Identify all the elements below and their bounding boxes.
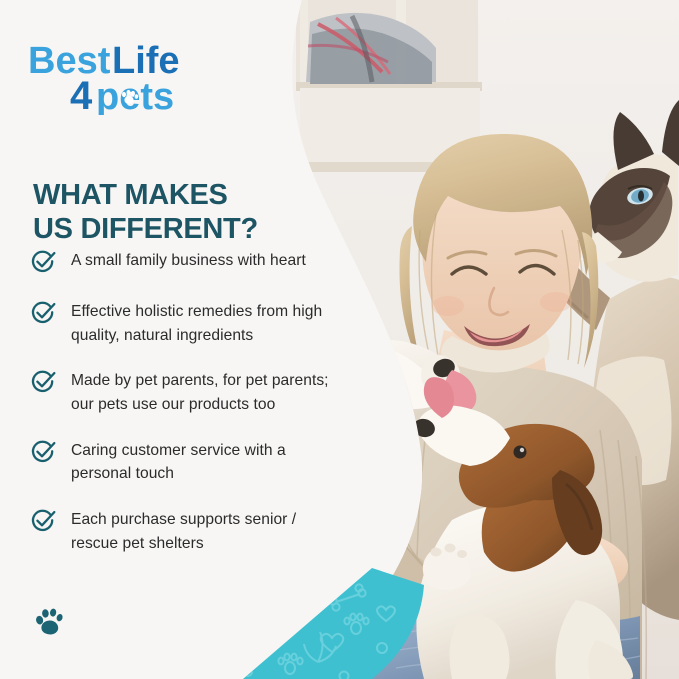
list-item: Made by pet parents, for pet parents; ou… <box>30 368 360 416</box>
check-circle-icon <box>30 249 56 275</box>
list-item: Caring customer service with a personal … <box>30 438 360 486</box>
brand-logo[interactable]: Best Life 4 pets <box>28 33 208 115</box>
benefits-list: A small family business with heart Effec… <box>30 248 360 577</box>
list-item: A small family business with heart <box>30 248 360 278</box>
check-circle-icon <box>30 300 56 326</box>
list-item-label: Caring customer service with a personal … <box>71 438 286 486</box>
brand-logo-mark: Best Life 4 pets <box>28 33 208 115</box>
list-item-label: A small family business with heart <box>71 248 306 273</box>
list-item: Effective holistic remedies from high qu… <box>30 299 360 347</box>
paw-print-icon <box>31 604 67 640</box>
list-item-label: Made by pet parents, for pet parents; ou… <box>71 368 329 416</box>
content-column: Best Life 4 pets WHAT MAKES US DIFFERENT… <box>0 0 300 679</box>
list-item-label: Effective holistic remedies from high qu… <box>71 299 322 347</box>
list-item-label: Each purchase supports senior / rescue p… <box>71 507 296 555</box>
list-item: Each purchase supports senior / rescue p… <box>30 507 360 555</box>
logo-text-four: 4 <box>70 74 93 115</box>
check-circle-icon <box>30 369 56 395</box>
check-circle-icon <box>30 508 56 534</box>
check-circle-icon <box>30 439 56 465</box>
page-title: WHAT MAKES US DIFFERENT? <box>33 179 303 246</box>
advertisement-creative: Best Life 4 pets WHAT MAKES US DIFFERENT… <box>0 0 679 679</box>
